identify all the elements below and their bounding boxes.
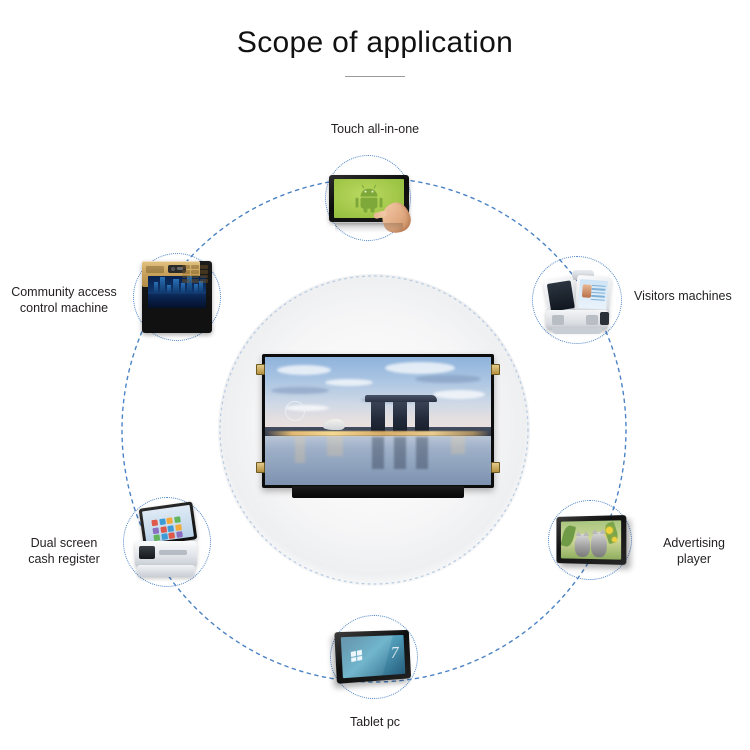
marina-bay-sands-screen-image (265, 357, 491, 485)
kittens-advertisement-screen (561, 520, 621, 559)
label-touch-all-in-one: Touch all-in-one (255, 121, 495, 137)
windows-logo-icon (351, 650, 363, 662)
windows-seven-glyph: 7 (390, 644, 399, 661)
node-tablet-pc[interactable]: 7 (330, 615, 418, 699)
android-robot-icon (361, 188, 378, 208)
keypad-buttons[interactable] (182, 265, 208, 283)
panel-mount-tab (256, 462, 265, 473)
label-dual-screen-cash-register: Dual screen cash register (8, 535, 120, 567)
node-touch-all-in-one[interactable] (325, 155, 411, 241)
panel-bottom-lip (292, 486, 464, 498)
node-advertising-player[interactable] (548, 500, 632, 580)
tablet-device-icon: 7 (334, 630, 411, 684)
label-community-access-control-machine: Community access control machine (0, 284, 130, 316)
scope-of-application-infographic: Scope of application (0, 0, 750, 750)
windows-tiles-icon (151, 516, 182, 541)
pos-customer-display (135, 541, 197, 567)
label-advertising-player: Advertising player (642, 535, 746, 567)
node-community-access-control-machine[interactable] (133, 253, 221, 341)
receipt-printer-slot (159, 550, 187, 555)
card-reader-icon (600, 312, 609, 325)
visitor-form-lines (591, 285, 606, 303)
lcd-display-panel[interactable] (262, 354, 494, 488)
pos-main-screen (139, 501, 198, 546)
windows-7-screen: 7 (341, 635, 406, 678)
node-dual-screen-cash-register[interactable] (123, 497, 211, 587)
kiosk-foot (552, 328, 602, 334)
panel-mount-tab (256, 364, 265, 375)
label-visitors-machines: Visitors machines (634, 288, 750, 304)
keypad-display (146, 266, 164, 273)
panel-mount-tab (491, 462, 500, 473)
label-tablet-pc: Tablet pc (300, 714, 450, 730)
touch-all-in-one-device-icon (329, 175, 409, 222)
panel-mount-tab (491, 364, 500, 375)
node-visitors-machines[interactable] (532, 256, 622, 344)
digital-signage-display-icon (556, 515, 626, 565)
kiosk-body (546, 310, 608, 330)
device-reflection (335, 223, 403, 233)
access-control-terminal-icon (142, 261, 212, 333)
pos-base-stand (137, 565, 195, 577)
